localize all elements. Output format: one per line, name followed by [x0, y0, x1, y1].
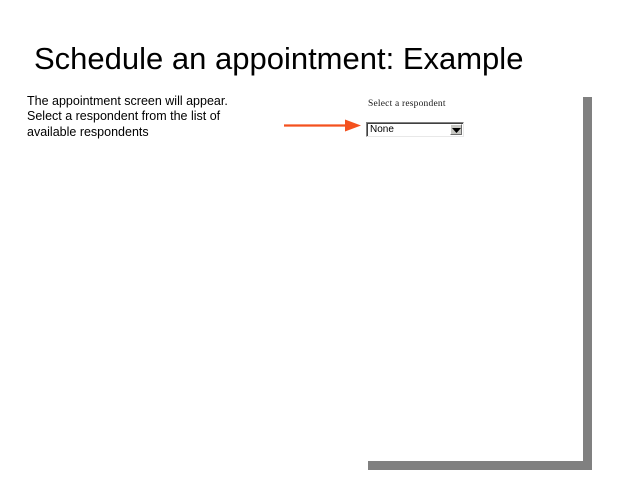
- respondent-field-label: Select a respondent: [368, 99, 446, 109]
- frame-shadow-right: [583, 97, 592, 470]
- chevron-down-icon[interactable]: [450, 124, 462, 135]
- slide-canvas: Schedule an appointment: Example The app…: [0, 0, 640, 480]
- arrow-right-icon: [282, 117, 364, 134]
- respondent-select[interactable]: None: [366, 122, 464, 137]
- app-screenshot: Select a respondent None: [366, 97, 583, 462]
- frame-shadow-bottom: [368, 461, 592, 470]
- instruction-text: The appointment screen will appear. Sele…: [27, 94, 253, 140]
- respondent-select-value: None: [370, 124, 394, 136]
- page-title: Schedule an appointment: Example: [34, 40, 614, 78]
